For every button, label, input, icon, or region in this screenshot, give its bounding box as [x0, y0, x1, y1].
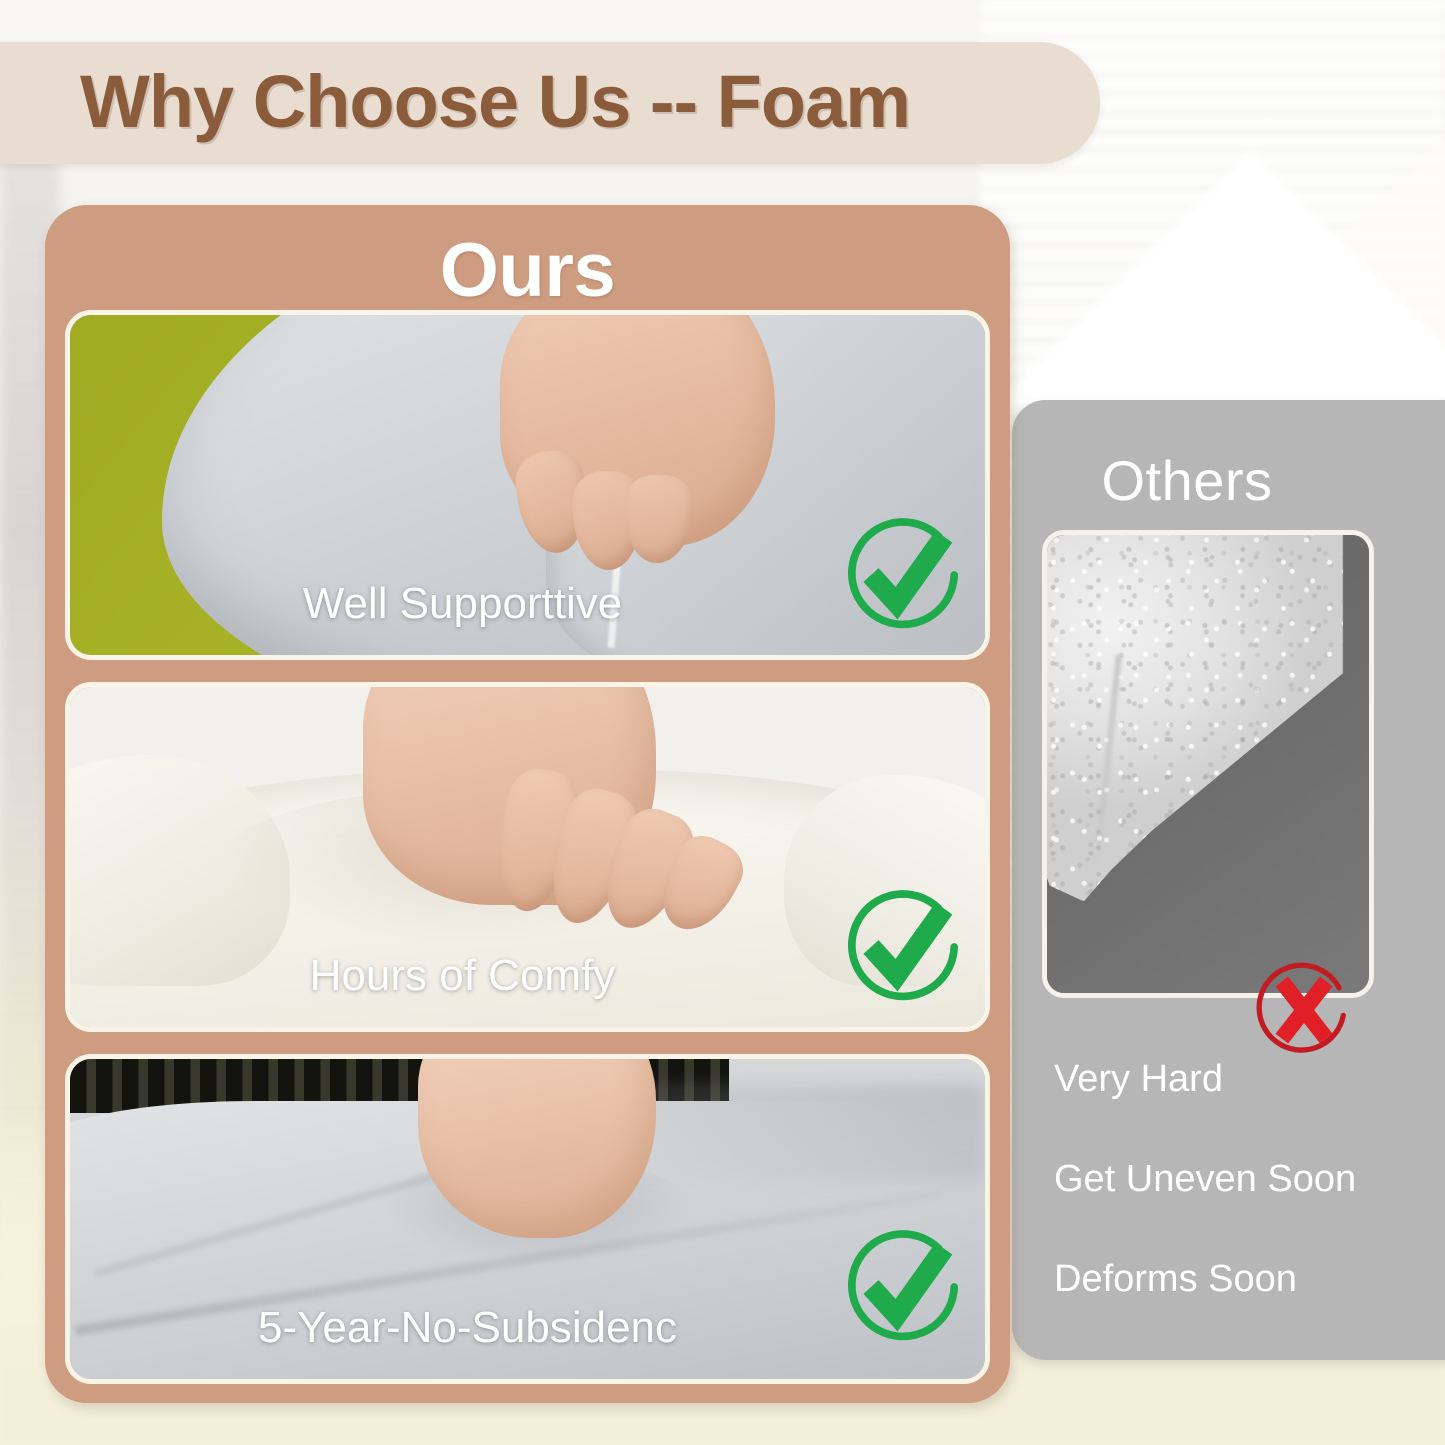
red-x-circle-icon [1250, 956, 1356, 1062]
ours-photo-card-2: Hours of Comfy [65, 682, 990, 1032]
others-drawback-list: Very Hard Get Uneven Soon Deforms Soon [1054, 1060, 1412, 1360]
ours-photo-card-3: 5-Year-No-Subsidenc [65, 1054, 990, 1384]
page-title: Why Choose Us -- Foam [80, 59, 910, 144]
ours-photo-card-1: Well Supporttive [65, 310, 990, 660]
others-panel: Others Very Hard Get Uneven Soon Deforms… [1012, 400, 1445, 1360]
house-gable-near [1000, 150, 1445, 400]
green-check-circle-icon [839, 1223, 967, 1351]
others-photo-card [1042, 530, 1374, 998]
list-item: Very Hard [1054, 1060, 1412, 1098]
others-panel-title: Others [1012, 448, 1362, 513]
list-item: Deforms Soon [1054, 1260, 1412, 1298]
title-banner: Why Choose Us -- Foam [0, 42, 1100, 164]
green-check-circle-icon [839, 883, 967, 1011]
ours-panel: Ours Well Supporttive Hours of Comfy [45, 205, 1010, 1403]
list-item: Get Uneven Soon [1054, 1160, 1412, 1198]
ours-panel-title: Ours [45, 227, 1010, 314]
cushion-shadow [619, 1085, 985, 1181]
green-check-circle-icon [839, 511, 967, 639]
